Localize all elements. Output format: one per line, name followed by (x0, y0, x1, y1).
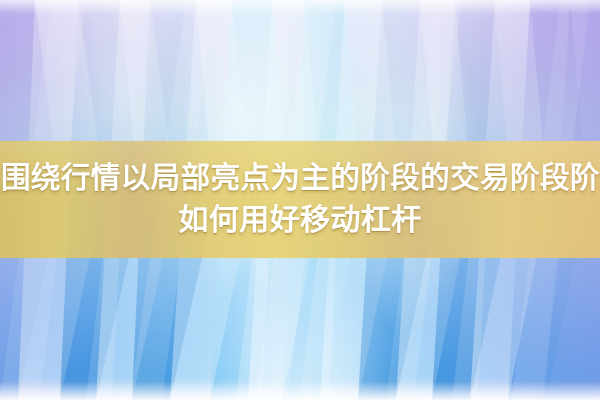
headline-line-2: 如何用好移动杠杆 (178, 201, 421, 241)
headline: 在围绕行情以局部亮点为主的阶段的交易阶段阶段 如何用好移动杠杆 (0, 141, 600, 258)
headline-line-1: 在围绕行情以局部亮点为主的阶段的交易阶段阶段 (0, 159, 600, 199)
cover-image: 在围绕行情以局部亮点为主的阶段的交易阶段阶段 如何用好移动杠杆 (0, 0, 600, 400)
